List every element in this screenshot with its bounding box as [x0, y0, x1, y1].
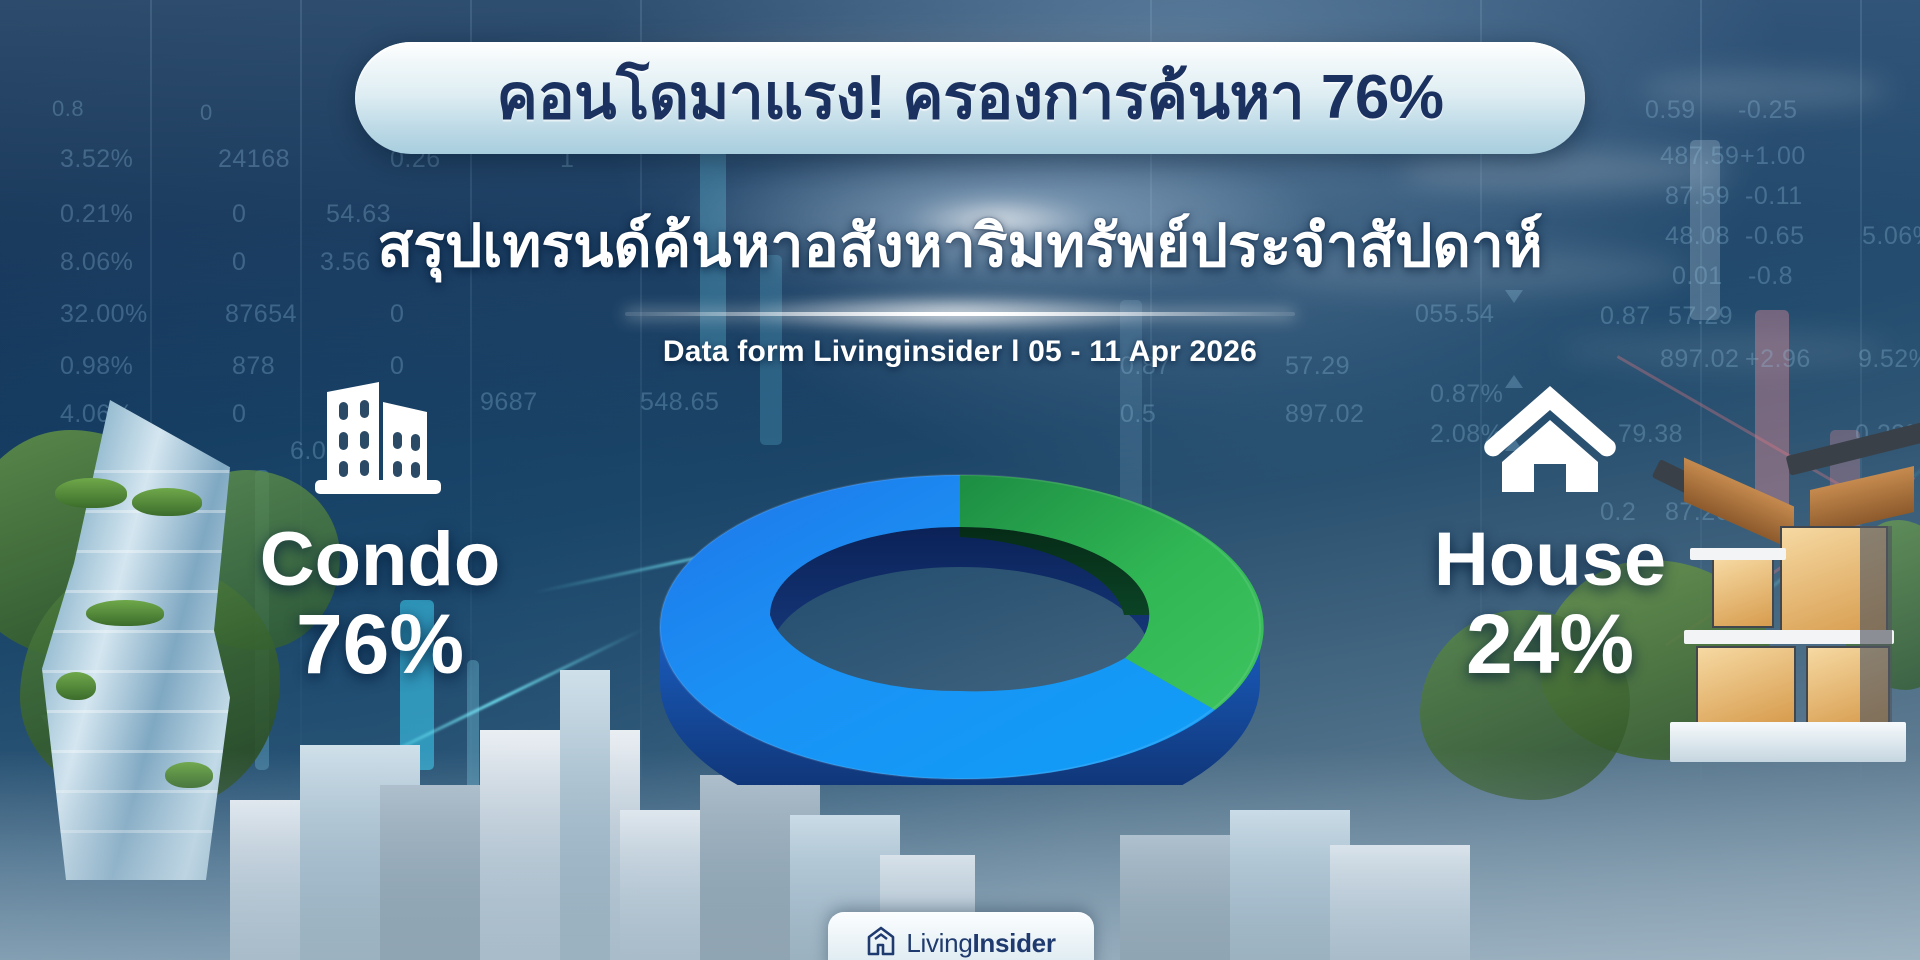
- infographic-canvas: 0.8 0 1 3.52% 24168 0.26 1 0.21% 0 54.63…: [0, 0, 1920, 960]
- ticker-value: 0.87: [1600, 302, 1651, 331]
- headline-text: คอนโดมาแรง! ครองการค้นหา 76%: [496, 67, 1443, 129]
- headline-pill: คอนโดมาแรง! ครองการค้นหา 76%: [355, 42, 1585, 154]
- ticker-value: 24168: [218, 145, 290, 174]
- tower-terrace-greenery: [55, 478, 127, 508]
- stat-label-house: House: [1385, 520, 1715, 600]
- stat-percent-condo: 76%: [215, 602, 545, 688]
- ticker-value: 0: [390, 300, 404, 329]
- ticker-value: +1.00: [1740, 142, 1806, 171]
- tower-terrace-greenery: [132, 488, 202, 516]
- stat-block-condo: Condo 76%: [215, 378, 545, 687]
- ticker-value: 055.54: [1415, 300, 1494, 329]
- data-source-caption: Data form Livinginsider l 05 - 11 Apr 20…: [0, 335, 1920, 369]
- ticker-value: 87654: [225, 300, 297, 329]
- stat-percent-house: 24%: [1385, 602, 1715, 688]
- logo-text-living: Living: [906, 928, 972, 958]
- ticker-value: 897.02: [1285, 400, 1364, 429]
- ticker-value: 3.52%: [60, 145, 133, 174]
- ticker-value: 57.29: [1668, 302, 1733, 331]
- donut-chart: [520, 455, 1400, 785]
- ticker-value: 0: [200, 100, 213, 126]
- tower-terrace-greenery: [86, 600, 164, 626]
- condo-building-icon: [215, 378, 545, 498]
- stat-block-house: House 24%: [1385, 378, 1715, 687]
- ticker-value: 487.59: [1660, 142, 1739, 171]
- ticker-value: 0.59: [1645, 96, 1696, 125]
- livinginsider-house-icon: [866, 925, 896, 960]
- ticker-value: 32.00%: [60, 300, 148, 329]
- ticker-value: -0.25: [1738, 96, 1797, 125]
- livinginsider-logo[interactable]: LivingInsider: [828, 912, 1094, 960]
- logo-text-insider: Insider: [972, 928, 1055, 958]
- tower-terrace-greenery: [56, 672, 96, 700]
- divider: [625, 312, 1295, 316]
- ticker-value: 548.65: [640, 388, 719, 417]
- ticker-value: 0.8: [52, 96, 84, 122]
- page-subtitle: สรุปเทรนด์ค้นหาอสังหาริมทรัพย์ประจำสัปดา…: [0, 198, 1920, 292]
- ticker-value: 0.5: [1120, 400, 1156, 429]
- house-icon: [1385, 378, 1715, 498]
- logo-wordmark: LivingInsider: [906, 928, 1055, 959]
- stat-label-condo: Condo: [215, 520, 545, 600]
